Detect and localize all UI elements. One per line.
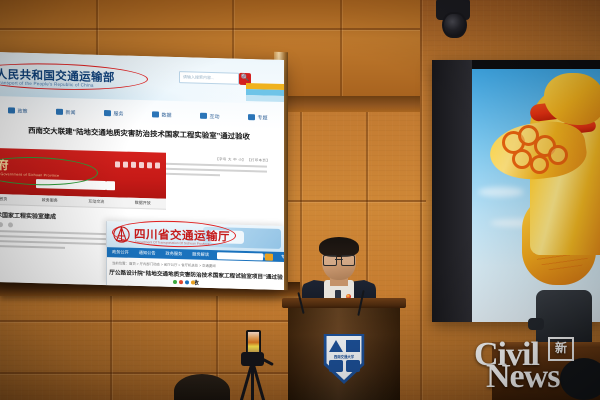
department-search-input[interactable] [217, 252, 263, 260]
wechat-share-icon [173, 280, 177, 284]
panel-seam [340, 0, 342, 96]
dept-nav-item[interactable]: 政务服务 [161, 251, 188, 258]
dept-nav-item[interactable]: 专题专栏 [276, 254, 284, 261]
weibo-share-icon [179, 280, 183, 284]
breadcrumb: 当前位置：首页 > 厅内部门动态 > 省厅公厅 > 省厅机关处 > 交通要闻 [112, 260, 216, 268]
chair-armrest [528, 318, 544, 330]
province-search-button[interactable] [106, 181, 115, 190]
watermark: Civil News 新 [474, 338, 596, 394]
province-nav-item[interactable]: 政务服务 [27, 197, 74, 204]
department-search-button[interactable] [265, 253, 273, 260]
speaker-hair [319, 237, 359, 257]
rss-icon [139, 162, 144, 168]
photo-scene: 中华人民共和国交通运输部 Ministry of Transport of th… [0, 0, 600, 400]
nav-label: 新闻 [65, 108, 75, 115]
tripod-with-phone [236, 330, 270, 400]
nav-label: 专题 [257, 114, 267, 121]
interaction-icon [200, 113, 207, 119]
panel-seam [0, 320, 300, 322]
article-meta: 【字号 大 中 小】 【打印本页】 [215, 156, 270, 163]
dept-nav-item[interactable]: 通知公告 [134, 250, 161, 257]
nav-label: 数据 [161, 111, 171, 118]
dept-nav-item[interactable]: 服务解读 [187, 251, 214, 258]
more-share-icon [191, 280, 195, 284]
ministry-color-bars [246, 83, 284, 102]
nav-label: 互动 [209, 112, 219, 119]
smartphone-icon [246, 330, 261, 354]
screen-bezel [432, 60, 472, 322]
panel-seam [110, 296, 112, 400]
province-nav-item[interactable]: 互动交流 [73, 198, 120, 205]
wechat-icon [123, 162, 128, 168]
share-icon-row [173, 280, 195, 285]
crest-label: 西南交通大学 [322, 354, 366, 359]
policy-icon [8, 107, 15, 113]
panel-seam [0, 28, 420, 30]
phone-icon [115, 161, 120, 167]
nav-label: 政策 [17, 107, 27, 114]
ministry-search-placeholder: 请输入搜索内容... [180, 72, 238, 84]
news-icon [56, 109, 63, 115]
share-icon [0, 222, 3, 227]
ministry-nav: 政策 新闻 服务 数据 [0, 100, 284, 128]
province-nav-item[interactable]: 数据开放 [120, 199, 167, 206]
dragon-image [472, 69, 600, 322]
ceiling-camera-icon [430, 0, 476, 40]
ministry-nav-item[interactable]: 互动 [186, 112, 234, 120]
watermark-line2: News [486, 360, 559, 394]
topic-icon [248, 114, 255, 120]
nav-label: 服务 [113, 110, 123, 117]
service-icon [104, 110, 111, 116]
qq-share-icon [185, 280, 189, 284]
mail-icon [155, 162, 160, 168]
accessibility-icon [147, 162, 152, 168]
panel-seam [286, 200, 426, 202]
data-icon [152, 111, 159, 117]
ministry-nav-item[interactable]: 服务 [90, 109, 138, 117]
right-led-screen [432, 60, 600, 322]
watermark-mark: 新 [548, 337, 574, 361]
audience-head-silhouette [174, 374, 230, 400]
ministry-search-input[interactable]: 请输入搜索内容... [179, 71, 239, 85]
ministry-nav-item[interactable]: 新闻 [42, 108, 90, 116]
ministry-nav-item[interactable]: 专题 [234, 113, 282, 121]
weibo-icon [131, 162, 136, 168]
font-size-icon [8, 222, 13, 227]
province-tool-icons [0, 222, 13, 228]
dept-nav-item[interactable]: 政务公开 [107, 249, 134, 256]
province-icon-row [115, 161, 160, 168]
ministry-nav-item[interactable]: 政策 [0, 106, 42, 114]
golden-dragon-sculpture [486, 75, 600, 255]
university-crest: 西南交通大学 [322, 334, 366, 384]
province-nav-item[interactable]: 首页 [0, 196, 27, 203]
glasses-icon [323, 255, 355, 264]
ministry-nav-item[interactable]: 数据 [138, 110, 186, 118]
main-projection-screen: 中华人民共和国交通运输部 Ministry of Transport of th… [0, 52, 284, 290]
